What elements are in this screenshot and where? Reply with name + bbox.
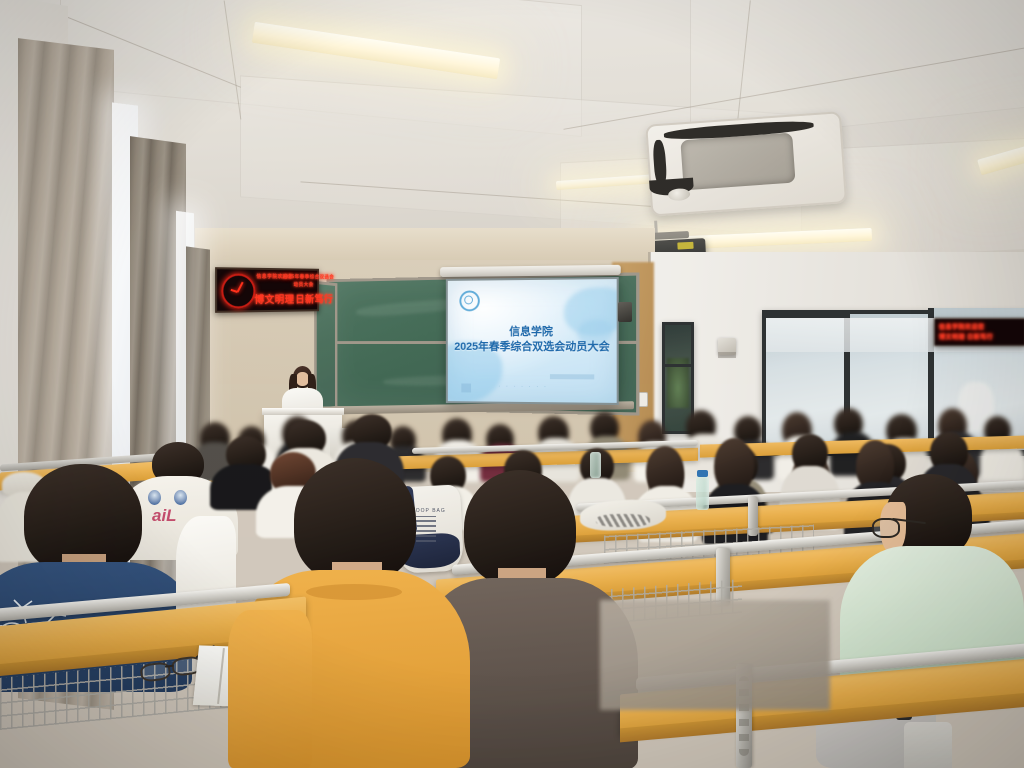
student-mint-shirt <box>820 468 1024 768</box>
glasses-icon <box>872 518 900 538</box>
led-motto-left: 博文明理 <box>254 291 294 306</box>
floor <box>600 600 830 710</box>
air-conditioner <box>645 111 843 212</box>
reflected-led-sign: 信息学院欢迎您 博文明理 日新笃行 <box>934 318 1024 346</box>
wall-speaker <box>618 302 632 322</box>
screen-surface: 信息学院 2025年春季综合双选会动员大会 · · · · · · · <box>446 277 619 405</box>
led-row1-right: 2025年春季综合双选会 <box>282 273 334 280</box>
wall-speaker-shadow <box>718 352 736 358</box>
clock-icon <box>221 273 255 308</box>
slide-title-line2: 2025年春季综合双选会动员大会 <box>448 341 617 355</box>
projection-screen: 信息学院 2025年春季综合双选会动员大会 · · · · · · · <box>446 273 615 411</box>
chair-back <box>904 722 952 768</box>
slide-title-line1: 信息学院 <box>448 326 617 340</box>
water-bottle <box>696 476 709 510</box>
slide-footer: · · · · · · · <box>498 384 548 390</box>
led-row2-right: 动员大会 <box>294 281 314 288</box>
bottle-cap <box>697 470 708 477</box>
led-motto-right: 日新笃行 <box>295 291 333 306</box>
front-wall-upper <box>195 228 655 260</box>
screen-housing <box>440 265 621 277</box>
orange-sleeve <box>228 610 312 768</box>
led-display-board: 信息学院欢迎您 2025年春季综合双选会 动员大会 博文明理 日新笃行 <box>215 267 319 313</box>
lecture-hall-photo: 信息学院欢迎您 博文明理 日新笃行 信息学院 2025年春季综合双选会动员大会 … <box>0 0 1024 768</box>
